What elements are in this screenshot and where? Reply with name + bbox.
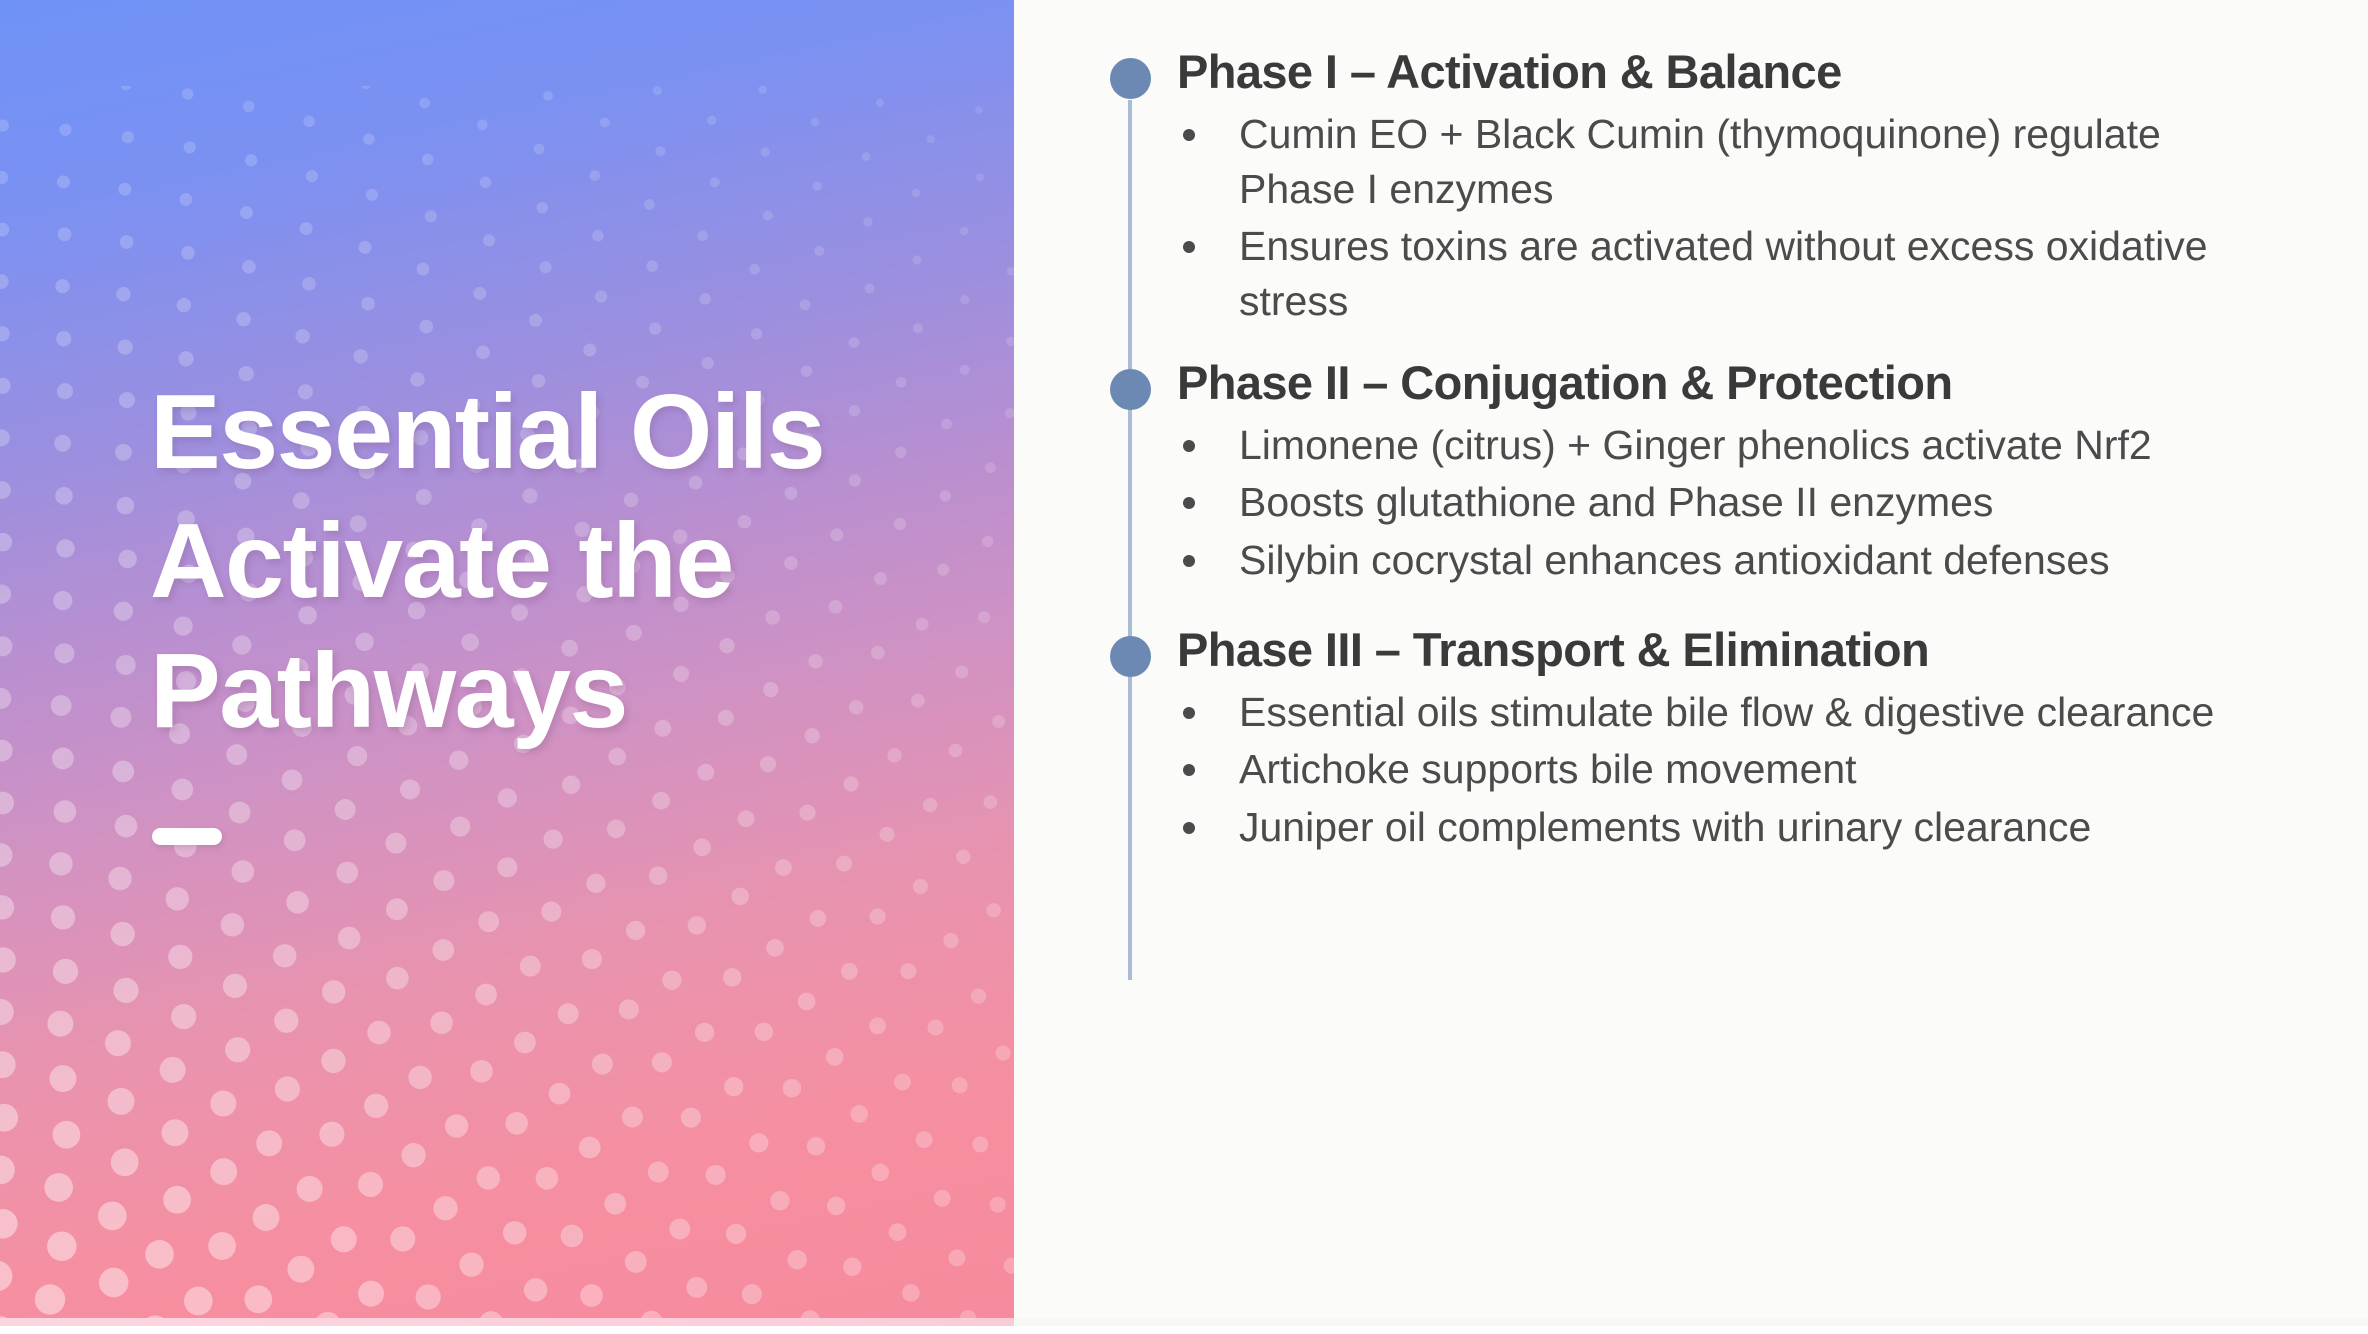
phase-3-bullet-list: Essential oils stimulate bile flow & dig… xyxy=(1177,685,2258,855)
phase-3-heading: Phase III – Transport & Elimination xyxy=(1177,622,2258,677)
list-item: Silybin cocrystal enhances antioxidant d… xyxy=(1177,533,2258,588)
list-item: Ensures toxins are activated without exc… xyxy=(1177,219,2258,328)
left-bottom-strip xyxy=(0,1318,1014,1326)
list-item-label: Artichoke supports bile movement xyxy=(1239,746,1857,792)
timeline-item-phase-2: Phase II – Conjugation & Protection Limo… xyxy=(1062,355,2258,588)
list-item: Limonene (citrus) + Ginger phenolics act… xyxy=(1177,418,2258,473)
list-item-label: Juniper oil complements with urinary cle… xyxy=(1239,804,2091,850)
bullet-dot-icon xyxy=(1183,241,1195,253)
slide: Essential Oils Activate the Pathways Pha… xyxy=(0,0,2368,1334)
phase-2-bullet-list: Limonene (citrus) + Ginger phenolics act… xyxy=(1177,418,2258,588)
list-item-label: Essential oils stimulate bile flow & dig… xyxy=(1239,689,2214,735)
list-item-label: Cumin EO + Black Cumin (thymoquinone) re… xyxy=(1239,111,2161,212)
timeline-item-phase-1: Phase I – Activation & Balance Cumin EO … xyxy=(1062,44,2258,329)
title-panel: Essential Oils Activate the Pathways xyxy=(0,0,1014,1326)
list-item: Boosts glutathione and Phase II enzymes xyxy=(1177,475,2258,530)
timeline-node-icon xyxy=(1110,636,1151,677)
bullet-dot-icon xyxy=(1183,707,1195,719)
phase-1-heading: Phase I – Activation & Balance xyxy=(1177,44,2258,99)
bullet-dot-icon xyxy=(1183,497,1195,509)
timeline-node-icon xyxy=(1110,369,1151,410)
list-item: Essential oils stimulate bile flow & dig… xyxy=(1177,685,2258,740)
bullet-dot-icon xyxy=(1183,440,1195,452)
timeline-item-phase-3: Phase III – Transport & Elimination Esse… xyxy=(1062,622,2258,855)
bullet-dot-icon xyxy=(1183,129,1195,141)
title-accent-bar xyxy=(152,828,222,845)
list-item-label: Limonene (citrus) + Ginger phenolics act… xyxy=(1239,422,2152,468)
timeline-node-icon xyxy=(1110,58,1151,99)
phase-1-bullet-list: Cumin EO + Black Cumin (thymoquinone) re… xyxy=(1177,107,2258,328)
list-item-label: Ensures toxins are activated without exc… xyxy=(1239,223,2208,324)
list-item: Artichoke supports bile movement xyxy=(1177,742,2258,797)
bullet-dot-icon xyxy=(1183,822,1195,834)
bullet-dot-icon xyxy=(1183,555,1195,567)
list-item: Cumin EO + Black Cumin (thymoquinone) re… xyxy=(1177,107,2258,216)
content-panel: Phase I – Activation & Balance Cumin EO … xyxy=(1014,0,2368,1326)
phase-2-heading: Phase II – Conjugation & Protection xyxy=(1177,355,2258,410)
list-item: Juniper oil complements with urinary cle… xyxy=(1177,800,2258,855)
phase-timeline: Phase I – Activation & Balance Cumin EO … xyxy=(1062,44,2258,1326)
bullet-dot-icon xyxy=(1183,764,1195,776)
page-title: Essential Oils Activate the Pathways xyxy=(150,368,950,756)
right-bottom-strip xyxy=(1014,1318,2368,1326)
list-item-label: Boosts glutathione and Phase II enzymes xyxy=(1239,479,1993,525)
list-item-label: Silybin cocrystal enhances antioxidant d… xyxy=(1239,537,2110,583)
